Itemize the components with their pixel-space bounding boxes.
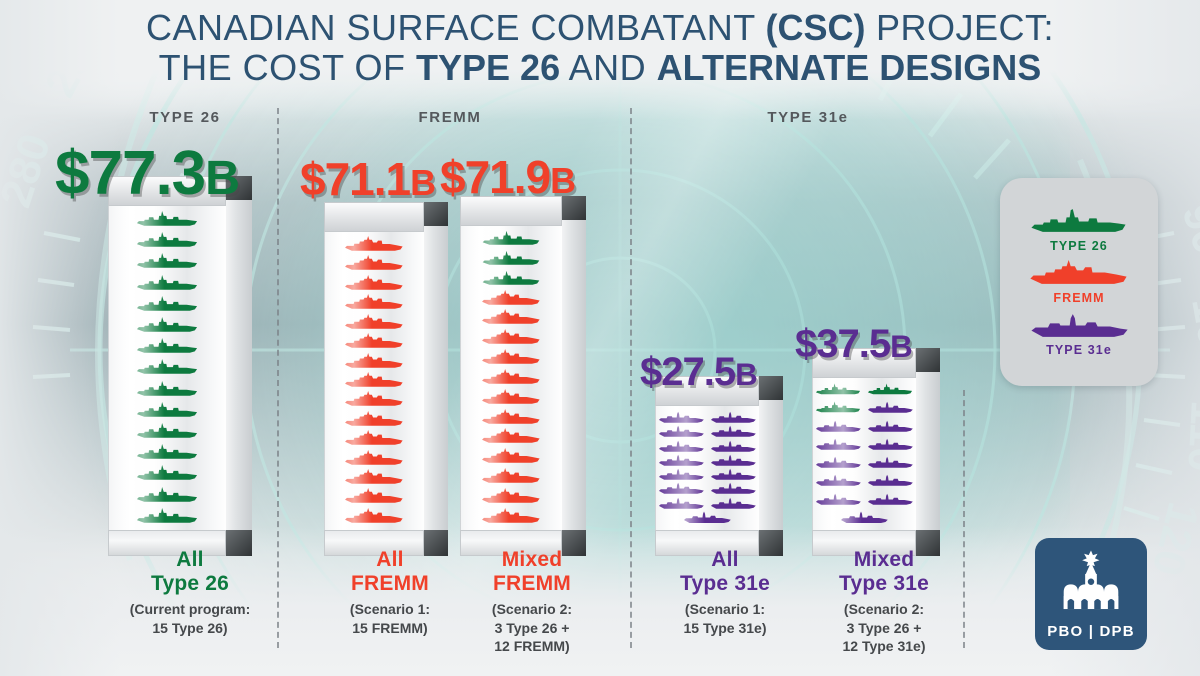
caption-title-line1: Mixed (796, 548, 972, 572)
caption-subtitle-line: 3 Type 26 + (796, 619, 972, 637)
bar-all-type-31e-value-label: $27.5B (640, 350, 757, 395)
group-header-type-31e: TYPE 31e (718, 109, 898, 126)
bar-mixed-type-31e-caption: MixedType 31e(Scenario 2:3 Type 26 +12 T… (796, 548, 972, 655)
caption-title-line2: Type 31e (640, 572, 810, 596)
caption-subtitle-line: 15 FREMM) (310, 619, 470, 637)
value-number: $27.5 (640, 350, 735, 394)
title-csc-emphasis: (CSC) (766, 7, 866, 48)
bar-mixed-fremm-value-label: $71.9B (440, 150, 575, 204)
caption-subtitle: (Scenario 2:3 Type 26 +12 FREMM) (448, 600, 616, 655)
svg-text:110: 110 (1178, 399, 1200, 472)
caption-subtitle-line: (Scenario 2: (796, 600, 972, 618)
svg-text:120: 120 (1143, 498, 1200, 581)
divider-2 (630, 108, 632, 648)
legend-label-type31e: TYPE 31e (1046, 343, 1112, 357)
caption-subtitle-line: 12 Type 31e) (796, 637, 972, 655)
caption-title-line1: All (310, 548, 470, 572)
caption-subtitle-line: 15 Type 26) (95, 619, 285, 637)
caption-subtitle: (Scenario 1:15 Type 31e) (640, 600, 810, 637)
caption-title: AllType 31e (640, 548, 810, 595)
svg-text:280: 280 (0, 128, 60, 213)
bar-mixed-type-31e[interactable] (812, 368, 940, 540)
bar-mixed-fremm[interactable] (460, 216, 586, 540)
caption-subtitle-line: (Scenario 2: (448, 600, 616, 618)
caption-title: AllFREMM (310, 548, 470, 595)
caption-title-line2: FREMM (448, 572, 616, 596)
title-line1-part1: CANADIAN SURFACE COMBATANT (146, 7, 766, 48)
legend-item-type26: TYPE 26 (1027, 207, 1131, 253)
caption-title: MixedFREMM (448, 548, 616, 595)
ship-type31e-icon (1027, 311, 1131, 341)
bar-glass-highlight (108, 196, 226, 540)
caption-title-line1: All (95, 548, 285, 572)
value-number: $77.3 (55, 139, 205, 208)
bar-side-face (916, 368, 940, 540)
caption-subtitle-line: (Scenario 1: (310, 600, 470, 618)
pbo-dpb-logo: PBO | DPB (1035, 538, 1147, 650)
title-type26-emphasis: TYPE 26 (416, 47, 560, 88)
group-header-type-26: TYPE 26 (95, 109, 275, 126)
peace-tower-icon (1052, 549, 1130, 621)
ship-type26-icon (1027, 207, 1131, 237)
caption-subtitle: (Current program:15 Type 26) (95, 600, 285, 637)
caption-title-line2: FREMM (310, 572, 470, 596)
value-unit: B (410, 163, 435, 203)
bar-side-face (562, 216, 586, 540)
caption-title-line1: All (640, 548, 810, 572)
bar-all-fremm[interactable] (324, 222, 448, 540)
bar-glass-highlight (324, 222, 424, 540)
title-line2-part3: AND (560, 47, 657, 88)
bar-top-cap (324, 202, 424, 232)
bar-top-cap-shade (916, 348, 940, 372)
infographic-canvas: 90 100 110 120 280 290 300 310 320 (0, 0, 1200, 676)
value-number: $71.1 (300, 153, 410, 205)
value-unit: B (890, 329, 912, 364)
caption-subtitle-line: 15 Type 31e) (640, 619, 810, 637)
ship-legend: TYPE 26 FREMM TYPE 31e (1000, 178, 1158, 386)
caption-subtitle-line: (Current program: (95, 600, 285, 618)
page-title: CANADIAN SURFACE COMBATANT (CSC) PROJECT… (0, 8, 1200, 89)
caption-title-line2: Type 31e (796, 572, 972, 596)
caption-subtitle: (Scenario 2:3 Type 26 +12 Type 31e) (796, 600, 972, 655)
group-header-fremm: FREMM (360, 109, 540, 126)
bar-mixed-type-31e-value-label: $37.5B (795, 322, 912, 367)
caption-title-line2: Type 26 (95, 572, 285, 596)
title-line2-part1: THE COST OF (159, 47, 416, 88)
bar-all-type-26-caption: AllType 26(Current program:15 Type 26) (95, 548, 285, 637)
caption-title: AllType 26 (95, 548, 285, 595)
value-unit: B (205, 151, 239, 205)
bar-glass-highlight (460, 216, 562, 540)
legend-item-fremm: FREMM (1027, 259, 1131, 305)
legend-label-fremm: FREMM (1053, 291, 1104, 305)
title-alternate-emphasis: ALTERNATE DESIGNS (657, 47, 1042, 88)
legend-label-type26: TYPE 26 (1050, 239, 1108, 253)
svg-text:100: 100 (1182, 293, 1200, 374)
caption-subtitle-line: 3 Type 26 + (448, 619, 616, 637)
value-number: $71.9 (440, 151, 550, 203)
caption-title-line1: Mixed (448, 548, 616, 572)
bar-mixed-fremm-caption: MixedFREMM(Scenario 2:3 Type 26 +12 FREM… (448, 548, 616, 655)
bar-all-type-26[interactable] (108, 196, 252, 540)
value-unit: B (735, 357, 757, 392)
value-number: $37.5 (795, 322, 890, 366)
value-unit: B (550, 161, 575, 201)
bar-all-type-31e[interactable] (655, 396, 783, 540)
title-line1-part3: PROJECT: (866, 7, 1055, 48)
bar-all-fremm-caption: AllFREMM(Scenario 1:15 FREMM) (310, 548, 470, 637)
bar-top-cap-shade (759, 376, 783, 400)
bar-side-face (424, 222, 448, 540)
caption-subtitle-line: 12 FREMM) (448, 637, 616, 655)
bar-side-face (226, 196, 252, 540)
legend-item-type31e: TYPE 31e (1027, 311, 1131, 357)
bar-glass-highlight (812, 368, 916, 540)
ship-fremm-icon (1027, 259, 1131, 289)
bar-all-fremm-value-label: $71.1B (300, 152, 435, 206)
caption-title: MixedType 31e (796, 548, 972, 595)
bar-glass-highlight (655, 396, 759, 540)
bar-side-face (759, 396, 783, 540)
caption-subtitle: (Scenario 1:15 FREMM) (310, 600, 470, 637)
pbo-logo-text: PBO | DPB (1047, 623, 1135, 640)
svg-text:90: 90 (1172, 198, 1200, 260)
bar-all-type-26-value-label: $77.3B (55, 138, 239, 209)
caption-subtitle-line: (Scenario 1: (640, 600, 810, 618)
bar-all-type-31e-caption: AllType 31e(Scenario 1:15 Type 31e) (640, 548, 810, 637)
